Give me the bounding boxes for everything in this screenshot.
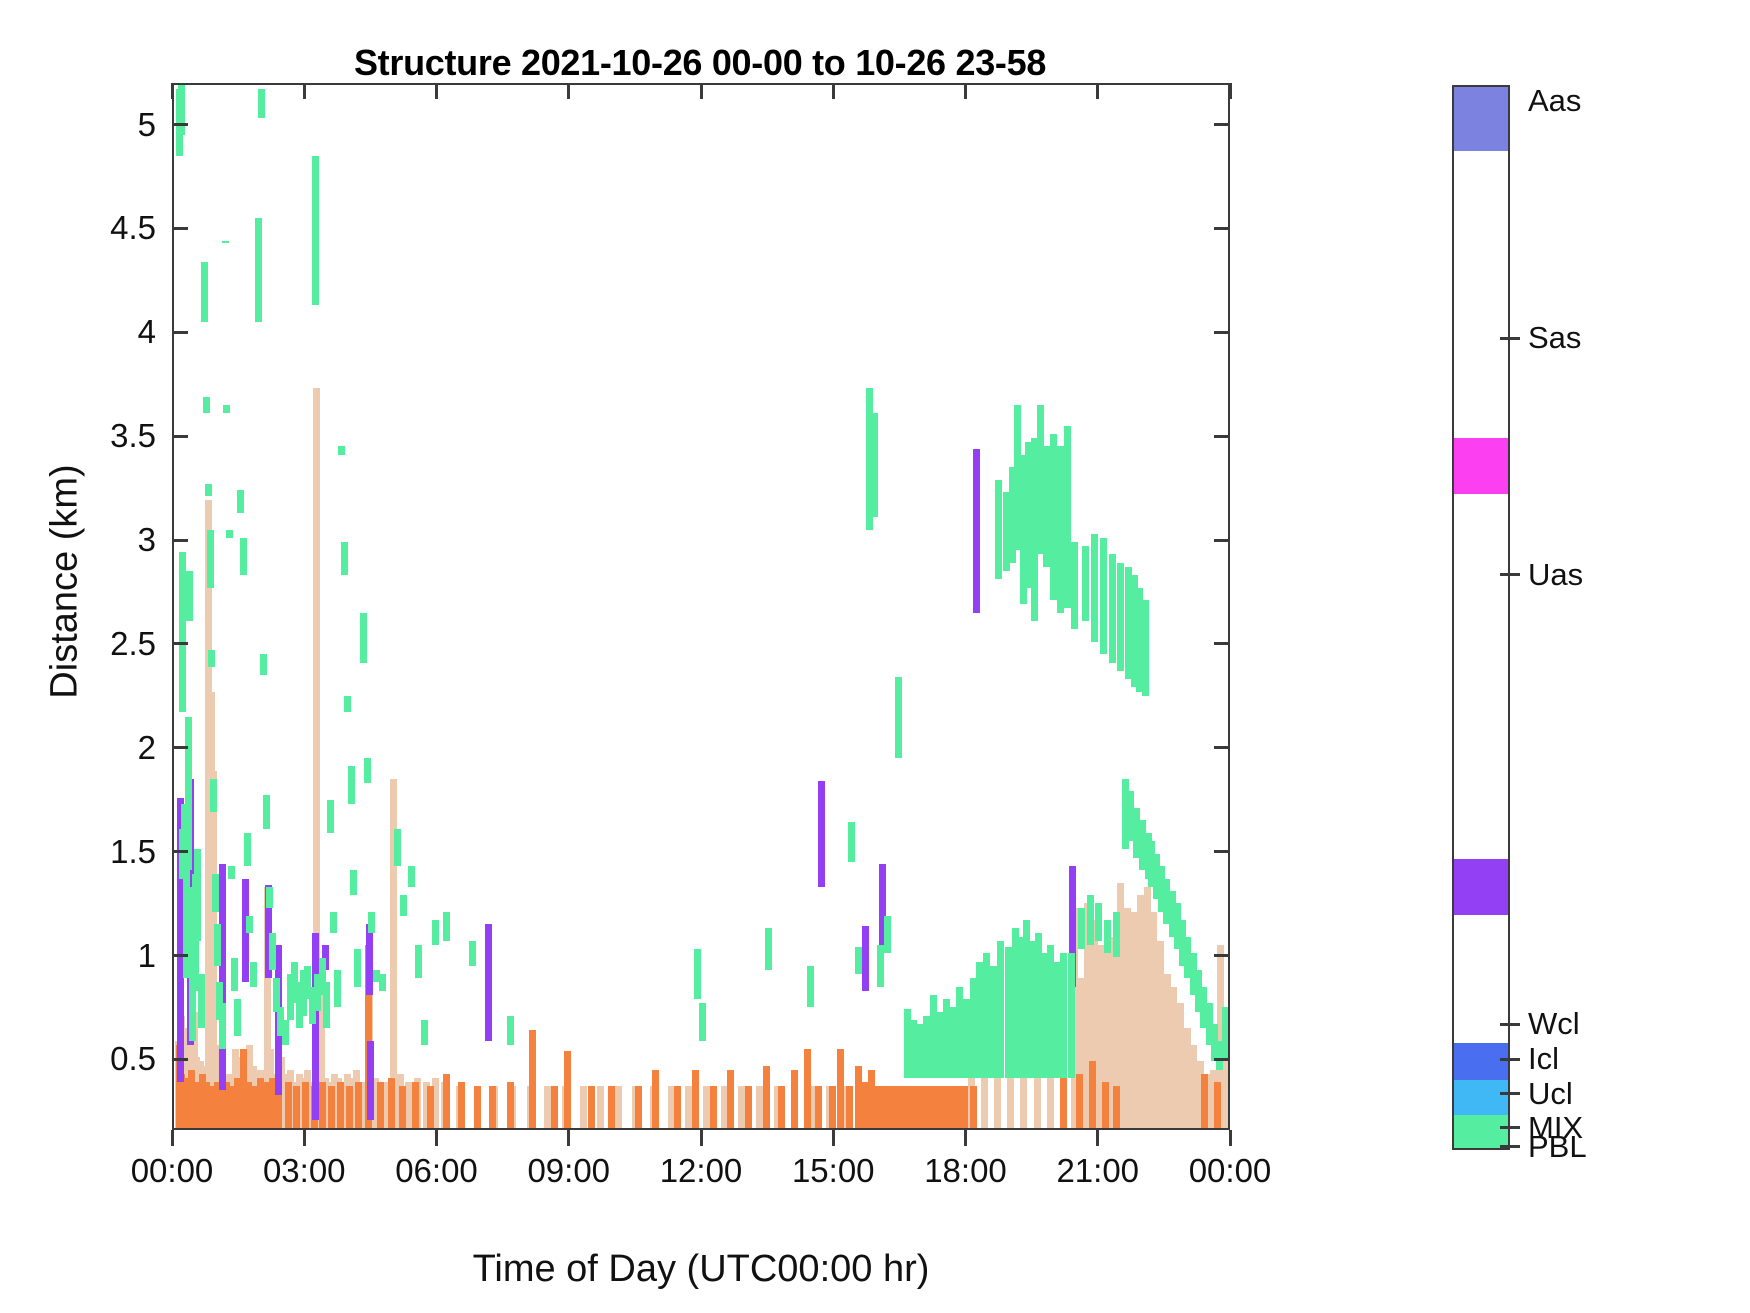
colorbar-label-icl: Icl [1528, 1043, 1559, 1074]
structure-bar-pbl [981, 1078, 988, 1128]
x-axis-tick [700, 83, 703, 99]
structure-bar-ucl [185, 717, 192, 871]
structure-bar-ucl [338, 446, 345, 454]
structure-bar-ucl [995, 480, 1002, 580]
structure-bar-ucl [360, 613, 367, 663]
x-axis-tick [1229, 1130, 1232, 1146]
structure-bar-mix [635, 1086, 642, 1128]
plot-canvas [174, 85, 1228, 1128]
structure-bar-ucl [231, 958, 238, 991]
structure-bar-ucl [1117, 563, 1124, 671]
structure-bar-ucl [394, 829, 401, 866]
structure-bar-mix [302, 1082, 309, 1128]
structure-bar-ucl [699, 1003, 706, 1040]
page-title: Structure 2021-10-26 00-00 to 10-26 23-5… [170, 42, 1230, 84]
structure-bar-mix [285, 1082, 292, 1128]
x-axis-tick [964, 83, 967, 99]
structure-bar-ucl [364, 758, 371, 783]
structure-bar-ucl [443, 912, 450, 941]
x-axis-tick [1096, 83, 1099, 99]
structure-bar-ucl [260, 654, 267, 675]
structure-bar-ucl [507, 1016, 514, 1045]
structure-bar-ucl [1104, 920, 1111, 953]
y-axis-tick-label: 0.5 [36, 1042, 156, 1075]
x-axis-tick [435, 83, 438, 99]
x-axis-title: Time of Day (UTC00:00 hr) [172, 1248, 1230, 1291]
y-axis-tick-label: 5 [36, 108, 156, 141]
structure-bar-mix [1113, 1086, 1120, 1128]
y-axis-tick [172, 123, 188, 126]
structure-bar-mix [588, 1086, 595, 1128]
structure-bar-ucl [269, 933, 276, 970]
structure-bar-mix [1089, 1061, 1096, 1128]
structure-bar-mix [377, 1082, 384, 1128]
structure-bar-mix [674, 1086, 681, 1128]
y-axis-tick [172, 642, 188, 645]
structure-bar-ucl [186, 571, 193, 621]
y-axis-tick-label: 4.5 [36, 211, 156, 244]
structure-bar-mix [355, 1082, 362, 1128]
structure-bar-pbl [1034, 1074, 1041, 1128]
structure-bar-mix [804, 1049, 811, 1128]
structure-bar-pbl [1020, 1074, 1027, 1128]
colorbar-segment-mix[interactable] [1454, 1149, 1508, 1150]
structure-bar-ucl [244, 833, 251, 866]
structure-bar-ucl [1082, 546, 1089, 621]
structure-bar-mix [427, 1086, 434, 1128]
x-axis-tick [1229, 83, 1232, 99]
structure-bar-mix [551, 1086, 558, 1128]
colorbar-label-aas: Aas [1528, 85, 1581, 116]
structure-bar-ucl [990, 966, 997, 1078]
structure-bar-mix [412, 1082, 419, 1128]
colorbar[interactable] [1452, 85, 1510, 1150]
structure-bar-ucl [226, 530, 233, 538]
structure-bar-ucl [205, 484, 212, 496]
structure-bar-ucl [1087, 895, 1094, 945]
structure-bar-ucl [1091, 534, 1098, 642]
structure-bar-mix [346, 1086, 353, 1128]
y-axis-tick [172, 331, 188, 334]
structure-bar-mix [791, 1070, 798, 1128]
structure-bar-pbl [994, 1074, 1001, 1128]
structure-bar-mix [293, 1086, 300, 1128]
structure-bar-ucl [1078, 908, 1085, 950]
structure-bar-pbl [1007, 1078, 1014, 1128]
y-axis-tick [1214, 331, 1230, 334]
structure-bar-ucl [282, 1020, 289, 1045]
structure-bar-ucl [258, 89, 265, 118]
structure-bar-mix [337, 1082, 344, 1128]
y-axis-tick [1214, 227, 1230, 230]
structure-bar-mix [846, 1086, 853, 1128]
structure-bar-ucl [421, 1020, 428, 1045]
structure-bar-ucl [312, 156, 319, 306]
y-axis-tick [1214, 642, 1230, 645]
structure-bar-mix [727, 1070, 734, 1128]
structure-bar-mix [815, 1086, 822, 1128]
structure-bar-uas [366, 924, 373, 995]
structure-bar-mix [399, 1086, 406, 1128]
structure-bar-ucl [214, 924, 221, 966]
structure-bar-ucl [1064, 426, 1071, 609]
x-axis-tick [567, 83, 570, 99]
x-axis-tick [700, 1130, 703, 1146]
y-axis-tick [1214, 746, 1230, 749]
y-axis-tick [172, 954, 188, 957]
structure-bar-mix [961, 1086, 968, 1128]
structure-bar-uas [367, 1041, 374, 1120]
colorbar-segment-sas[interactable] [1454, 438, 1508, 493]
y-axis-tick [1214, 954, 1230, 957]
structure-bar-ucl [330, 912, 337, 933]
structure-bar-ucl [222, 241, 229, 243]
x-axis-tick [435, 1130, 438, 1146]
structure-bar-uas [485, 924, 492, 1040]
structure-bar-ucl [250, 962, 257, 987]
structure-bar-ucl [432, 920, 439, 945]
y-axis-tick [172, 1058, 188, 1061]
structure-bar-pbl [615, 1086, 622, 1128]
structure-bar-ucl [807, 966, 814, 1008]
structure-bar-ucl [765, 928, 772, 970]
y-axis-tick [1214, 850, 1230, 853]
colorbar-label-sas: Sas [1528, 322, 1581, 353]
structure-bar-ucl [400, 895, 407, 916]
structure-bar-ucl [237, 490, 244, 513]
structure-bar-ucl [255, 218, 262, 322]
y-axis-tick [1214, 123, 1230, 126]
structure-bar-ucl [408, 866, 415, 887]
structure-bar-ucl [203, 397, 210, 414]
y-axis-tick [172, 435, 188, 438]
colorbar-label-ucl: Ucl [1528, 1078, 1573, 1109]
structure-bar-mix [458, 1082, 465, 1128]
structure-bar-mix [474, 1086, 481, 1128]
structure-bar-ucl [334, 970, 341, 1007]
structure-bar-ucl [354, 949, 361, 986]
structure-bar-ucl [323, 982, 330, 1028]
structure-bar-mix [710, 1086, 717, 1128]
y-axis-tick-label: 1.5 [36, 835, 156, 868]
structure-bar-ucl [997, 941, 1004, 1078]
structure-bar-mix [763, 1066, 770, 1128]
structure-bar-mix [837, 1049, 844, 1128]
x-axis-tick [567, 1130, 570, 1146]
structure-bar-ucl [219, 1003, 226, 1049]
structure-bar-pbl [580, 1086, 587, 1128]
structure-bar-ucl [228, 866, 235, 878]
structure-bar-ucl [415, 945, 422, 978]
structure-bar-mix [489, 1086, 496, 1128]
structure-bar-uas [973, 449, 980, 613]
structure-bar-ucl [212, 874, 219, 911]
structure-bar-ucl [895, 677, 902, 758]
y-axis-tick [1214, 435, 1230, 438]
structure-bar-ucl [469, 941, 476, 966]
structure-bar-mix [970, 1086, 977, 1128]
structure-bar-mix [652, 1070, 659, 1128]
structure-bar-mix [443, 1074, 450, 1128]
y-axis-tick-label: 4 [36, 315, 156, 348]
structure-bar-mix [778, 1086, 785, 1128]
colorbar-segment-uas[interactable] [1454, 859, 1508, 914]
structure-bar-ucl [246, 916, 253, 933]
structure-bar-ucl [198, 974, 205, 1028]
structure-bar-ucl [223, 405, 230, 413]
structure-bar-ucl [266, 887, 273, 908]
structure-bar-ucl [234, 999, 241, 1036]
structure-bar-ucl [208, 650, 215, 667]
y-axis-tick [172, 227, 188, 230]
y-axis-tick [172, 539, 188, 542]
colorbar-tick [1500, 573, 1520, 576]
structure-bar-ucl [379, 974, 386, 991]
x-axis-tick-label: 00:00 [1140, 1152, 1320, 1190]
structure-bar-mix [507, 1082, 514, 1128]
structure-bar-ucl [1095, 903, 1102, 940]
structure-bar-ucl [1068, 953, 1075, 1078]
colorbar-label-pbl: PBL [1528, 1131, 1587, 1162]
x-axis-tick [171, 83, 174, 99]
structure-bar-ucl [327, 800, 334, 833]
structure-bar-mix [745, 1086, 752, 1128]
structure-bar-ucl [178, 85, 185, 135]
y-axis-title: Distance (km) [44, 367, 87, 797]
colorbar-tick [1500, 1092, 1520, 1095]
structure-bar-ucl [1142, 600, 1149, 696]
y-axis-tick-label: 1 [36, 939, 156, 972]
colorbar-segment-ucl[interactable] [1454, 1115, 1508, 1149]
structure-bar-mix [564, 1051, 571, 1128]
structure-bar-mix [692, 1070, 699, 1128]
structure-bar-ucl [240, 538, 247, 575]
structure-bar-mix [1102, 1082, 1109, 1128]
structure-bar-ucl [1100, 538, 1107, 654]
x-axis-tick [1096, 1130, 1099, 1146]
x-axis-tick [964, 1130, 967, 1146]
structure-bar-ucl [1113, 912, 1120, 958]
colorbar-tick [1500, 337, 1520, 340]
colorbar-tick [1500, 1126, 1520, 1129]
y-axis-tick [1214, 1058, 1230, 1061]
structure-bar-mix [328, 1086, 335, 1128]
colorbar-tick [1500, 1058, 1520, 1061]
colorbar-tick [1500, 1023, 1520, 1026]
y-axis-tick [1214, 539, 1230, 542]
structure-bar-ucl [201, 262, 208, 322]
colorbar-segment-wcl[interactable] [1454, 1043, 1508, 1079]
x-axis-tick [303, 83, 306, 99]
colorbar-tick [1500, 1145, 1520, 1148]
structure-bar-mix [608, 1086, 615, 1128]
colorbar-segment-icl[interactable] [1454, 1080, 1508, 1115]
structure-bar-ucl [884, 916, 891, 953]
structure-bar-uas [818, 781, 825, 887]
structure-bar-pbl [597, 1086, 604, 1128]
structure-bar-mix [319, 1082, 326, 1128]
structure-bar-ucl [341, 542, 348, 575]
colorbar-label-uas: Uas [1528, 559, 1583, 590]
structure-bar-mix [388, 1078, 395, 1128]
structure-bar-ucl [871, 413, 878, 517]
structure-bar-ucl [263, 795, 270, 828]
structure-bar-ucl [1060, 953, 1067, 1078]
y-axis-tick [172, 850, 188, 853]
structure-bar-ucl [848, 822, 855, 861]
structure-bar-ucl [1071, 542, 1078, 629]
structure-bar-ucl [179, 552, 186, 712]
structure-bar-ucl [194, 849, 201, 940]
structure-bar-ucl [210, 779, 217, 812]
structure-bar-uas [219, 864, 226, 1090]
structure-bar-mix [829, 1086, 836, 1128]
colorbar-label-wcl: Wcl [1528, 1008, 1580, 1039]
structure-bar-mix [1201, 1074, 1208, 1128]
structure-bar-ucl [1050, 434, 1057, 600]
x-axis-tick [832, 1130, 835, 1146]
structure-bar-uas [862, 926, 869, 990]
structure-bar-mix [1214, 1082, 1221, 1128]
structure-bar-ucl [350, 870, 357, 895]
x-axis-tick [171, 1130, 174, 1146]
y-axis-tick [172, 746, 188, 749]
colorbar-segment-aas[interactable] [1454, 87, 1508, 151]
x-axis-tick [832, 83, 835, 99]
structure-bar-ucl [1109, 554, 1116, 662]
structure-bar-mix [1076, 1074, 1083, 1128]
structure-bar-pbl [1047, 1078, 1054, 1128]
structure-bar-ucl [1057, 446, 1064, 612]
structure-bar-ucl [855, 947, 862, 974]
plot-area [172, 83, 1230, 1130]
structure-bar-ucl [368, 912, 375, 933]
structure-bar-ucl [207, 530, 214, 588]
structure-bar-ucl [348, 766, 355, 803]
structure-bar-mix [529, 1030, 536, 1128]
structure-bar-ucl [344, 696, 351, 713]
x-axis-tick [303, 1130, 306, 1146]
structure-bar-ucl [694, 949, 701, 999]
